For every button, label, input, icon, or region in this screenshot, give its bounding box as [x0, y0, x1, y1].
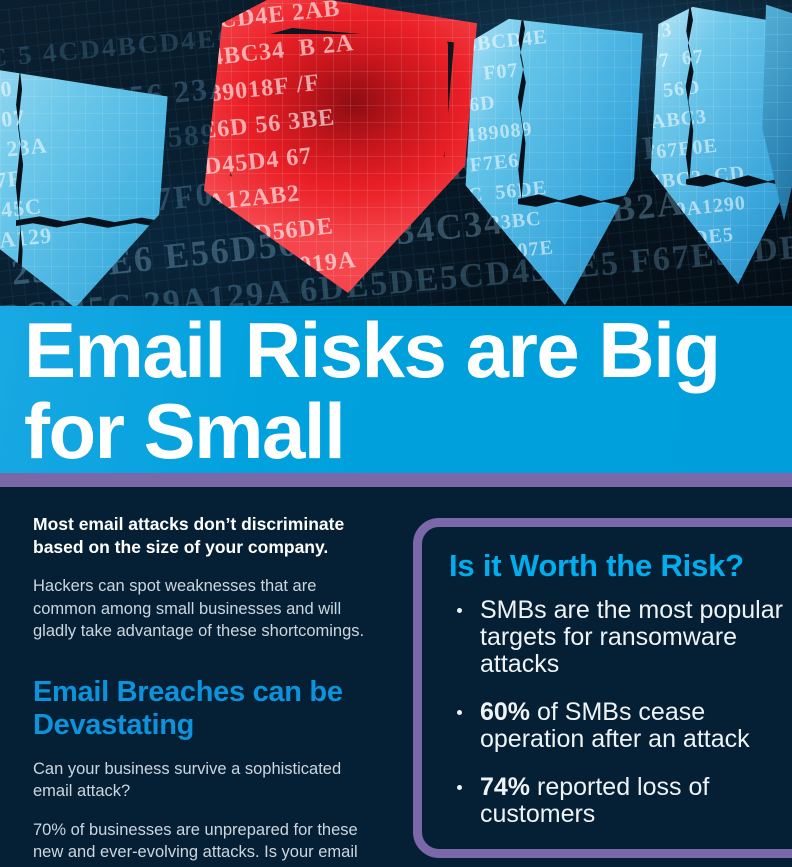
left-text-column: Most email attacks don’t discriminate ba… — [33, 513, 383, 867]
paragraph-unprepared: 70% of businesses are unprepared for the… — [33, 819, 383, 867]
list-item: SMBs are the most popular targets for ra… — [449, 597, 792, 678]
worth-the-risk-card: Is it Worth the Risk? SMBs are the most … — [413, 518, 792, 858]
infographic-page: CD4C 5 4CD4BCD4EC4BC F6 8 F 0EF67E56 23A… — [0, 0, 792, 867]
card-bullet-list: SMBs are the most popular targets for ra… — [449, 597, 792, 828]
card-heading: Is it Worth the Risk? — [449, 549, 792, 583]
list-item-emphasis: 60% — [480, 698, 530, 726]
bullet-dot-icon — [457, 710, 462, 715]
purple-divider — [0, 473, 792, 487]
bullet-dot-icon — [457, 785, 462, 790]
title-banner: Email Risks are Big for Small Businesses — [0, 306, 792, 473]
paragraph-survive: Can your business survive a sophisticate… — [33, 758, 383, 803]
section-heading-email-breaches: Email Breaches can be Devastating — [33, 676, 383, 742]
list-item: 60% of SMBs cease operation after an att… — [449, 699, 792, 753]
content-area: Most email attacks don’t discriminate ba… — [0, 487, 792, 867]
hero-image: CD4C 5 4CD4BCD4EC4BC F6 8 F 0EF67E56 23A… — [0, 0, 792, 306]
page-title-line-1: Email Risks are Big — [24, 306, 720, 394]
bullet-dot-icon — [457, 608, 462, 613]
list-item-emphasis: 74% — [480, 773, 530, 801]
paragraph-hackers: Hackers can spot weaknesses that are com… — [33, 575, 383, 643]
list-item-text: SMBs are the most popular targets for ra… — [480, 596, 783, 678]
lead-statement: Most email attacks don’t discriminate ba… — [33, 513, 383, 559]
list-item: 74% reported loss of customers — [449, 774, 792, 828]
